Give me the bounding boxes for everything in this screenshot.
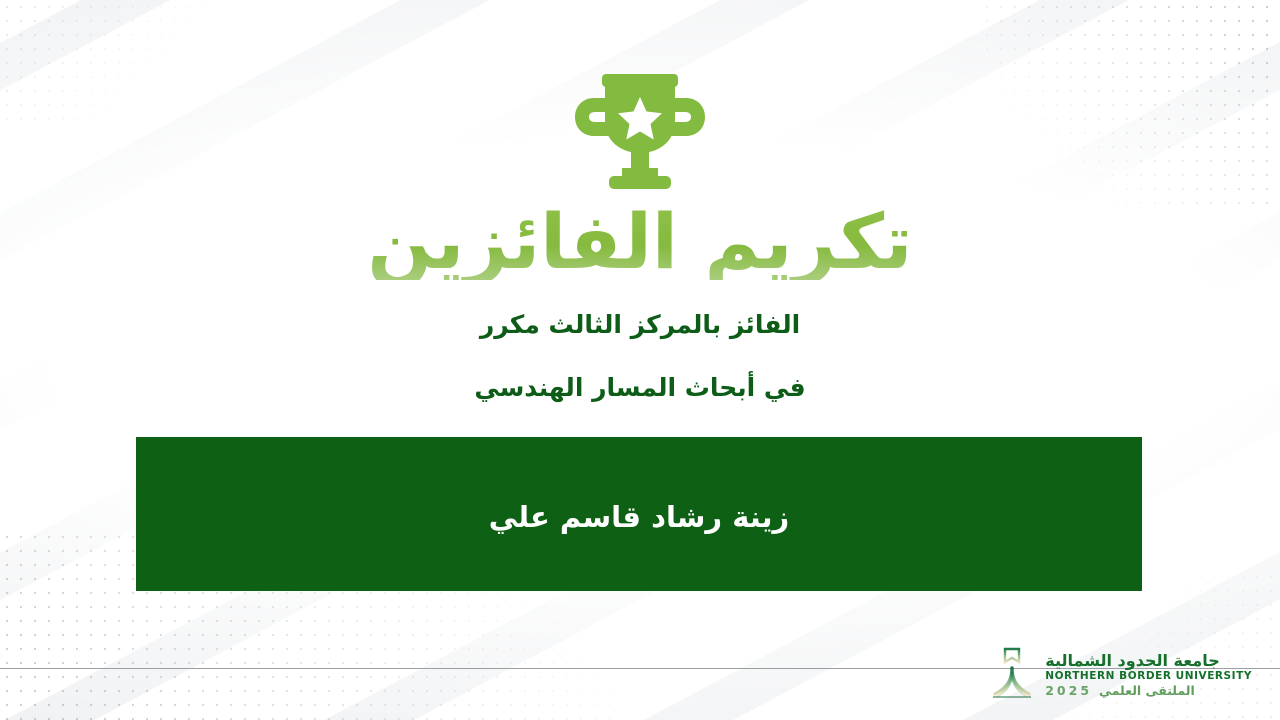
open-book-emblem-icon xyxy=(985,644,1039,706)
award-slide: تكريم الفائزين الفائز بالمركز الثالث مكر… xyxy=(0,0,1280,720)
page-title: تكريم الفائزين xyxy=(0,204,1280,280)
award-rank-line: الفائز بالمركز الثالث مكرر xyxy=(0,312,1280,337)
award-track-line: في أبحاث المسار الهندسي xyxy=(0,375,1280,400)
trophy-icon xyxy=(0,74,1280,190)
university-logo-text: جامعة الحدود الشمالية NORTHERN BORDER UN… xyxy=(1045,653,1252,698)
forum-label: الملتقى العلمي 2025 xyxy=(1045,685,1195,698)
university-name-english: NORTHERN BORDER UNIVERSITY xyxy=(1045,671,1252,682)
forum-name-arabic: الملتقى العلمي xyxy=(1099,685,1195,698)
university-name-arabic: جامعة الحدود الشمالية xyxy=(1045,653,1220,669)
slide-content: تكريم الفائزين الفائز بالمركز الثالث مكر… xyxy=(0,0,1280,720)
winner-name: زينة رشاد قاسم علي xyxy=(489,503,789,532)
university-logo: جامعة الحدود الشمالية NORTHERN BORDER UN… xyxy=(985,644,1252,706)
award-description: الفائز بالمركز الثالث مكرر في أبحاث المس… xyxy=(0,312,1280,400)
winner-name-bar: زينة رشاد قاسم علي xyxy=(136,437,1142,591)
forum-year: 2025 xyxy=(1045,685,1092,698)
